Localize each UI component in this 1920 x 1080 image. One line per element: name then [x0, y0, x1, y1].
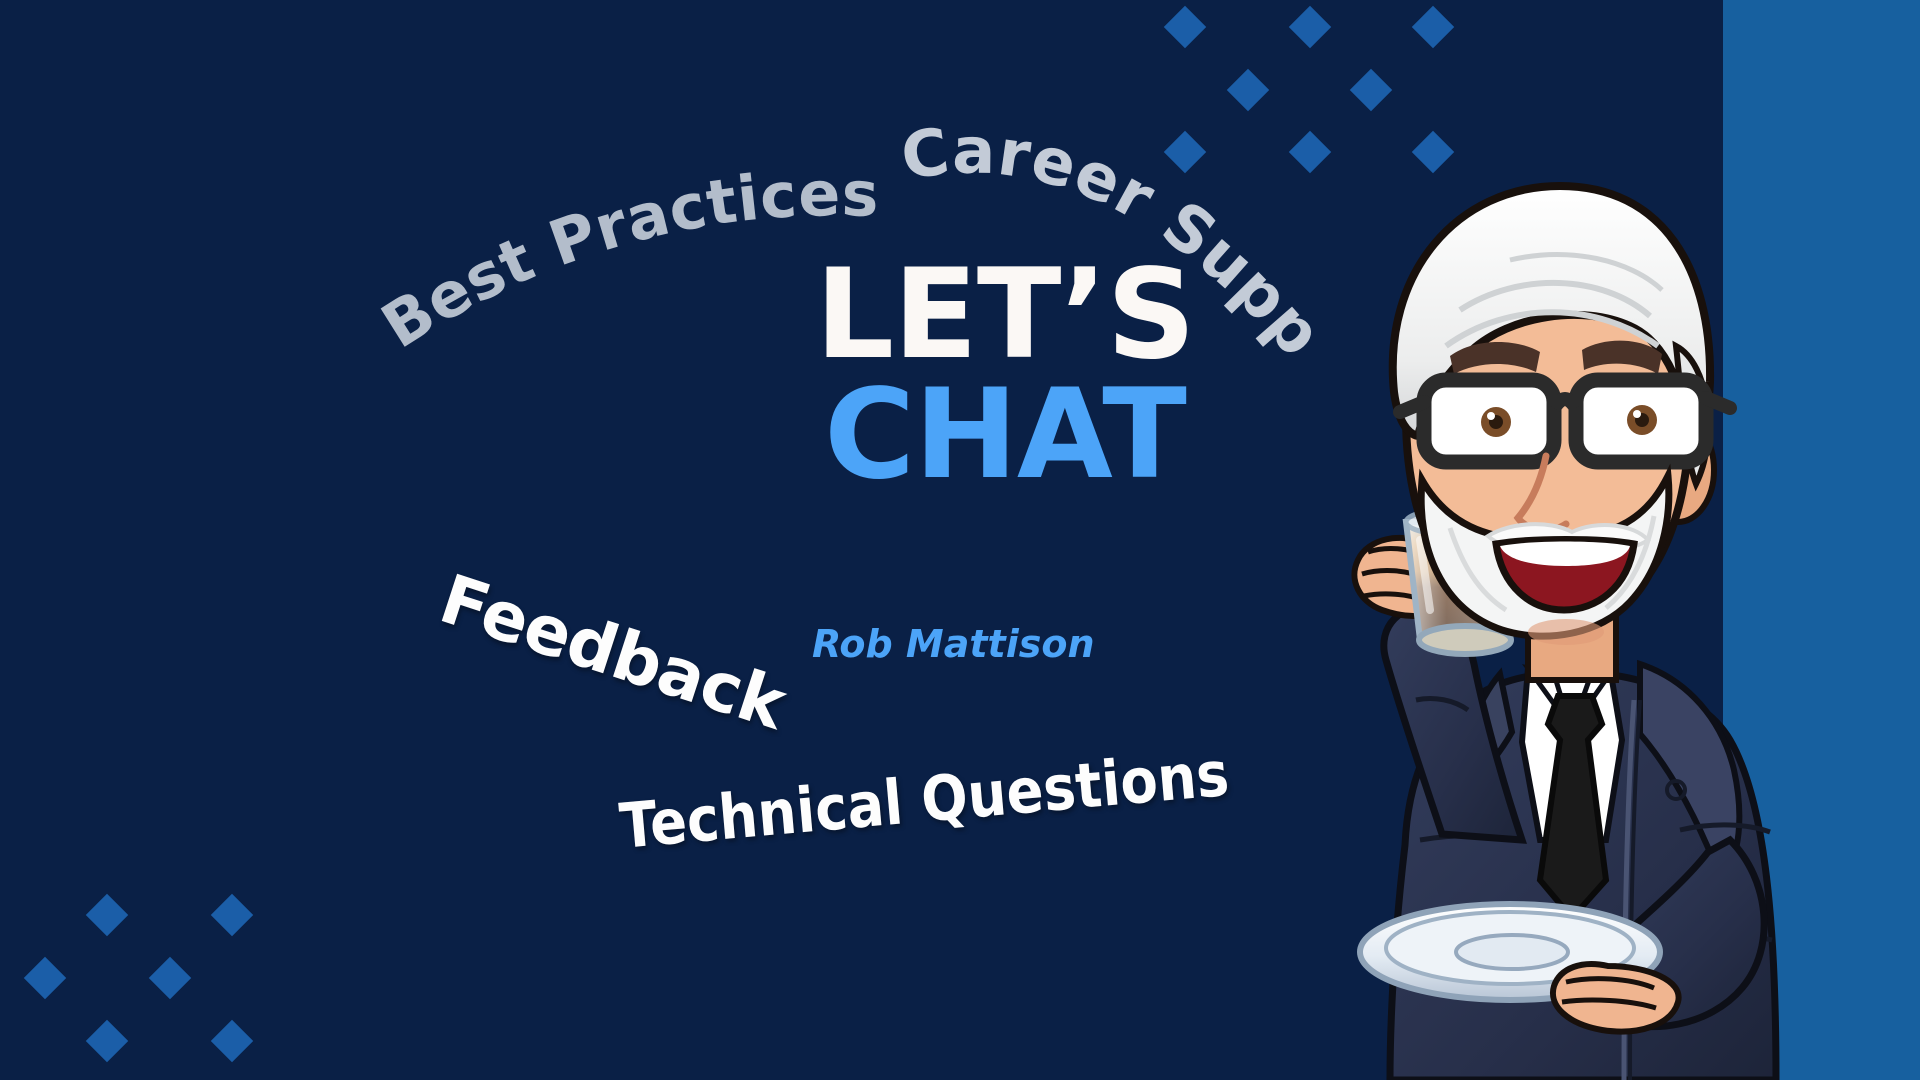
diamond-shape	[1227, 69, 1269, 111]
presenter-name: Rob Mattison	[812, 622, 1095, 666]
diamond-pattern-bottom-left	[30, 880, 330, 1080]
diamond-shape	[1350, 69, 1392, 111]
avatar-head	[1393, 186, 1730, 645]
headline-line-two: CHAT	[770, 378, 1240, 492]
diamond-shape	[211, 1020, 253, 1062]
diamond-shape	[24, 957, 66, 999]
diamond-shape	[86, 1020, 128, 1062]
headline-line-one: LET’S	[770, 258, 1240, 372]
diamond-shape	[1164, 6, 1206, 48]
diamond-shape	[149, 957, 191, 999]
page-title: LET’S CHAT	[770, 258, 1240, 492]
avatar-hand-saucer	[1553, 964, 1679, 1032]
diamond-shape	[1164, 131, 1206, 173]
diamond-shape	[1289, 6, 1331, 48]
diamond-shape	[211, 894, 253, 936]
presentation-slide: Best Practices Career Support LET’S CHAT…	[0, 0, 1920, 1080]
diamond-shape	[1412, 6, 1454, 48]
avatar	[1210, 140, 1850, 1080]
diamond-shape	[86, 894, 128, 936]
